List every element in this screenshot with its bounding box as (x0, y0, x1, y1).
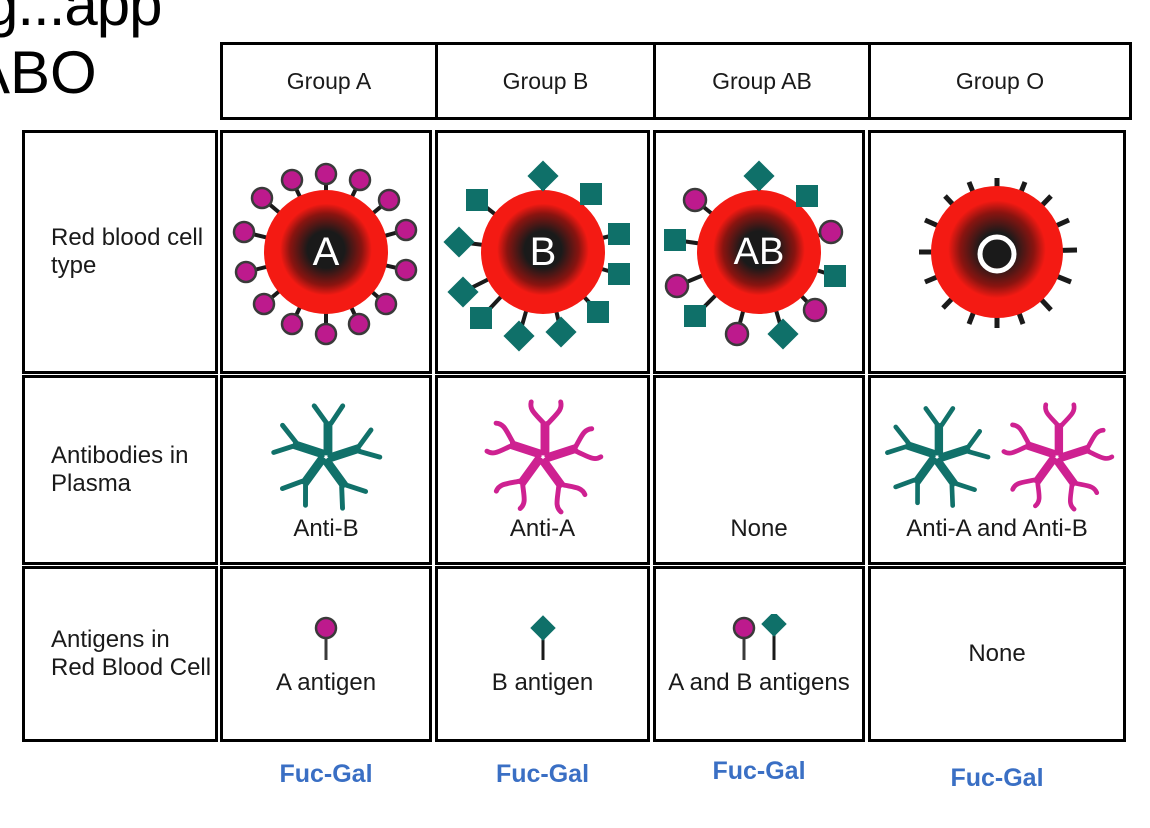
antigens-caption-group-o: None (968, 641, 1025, 668)
row-label-antigens-in-red-blood-cell: Antigens in Red Blood Cell (22, 566, 218, 742)
cell-rbc-group-a: A (220, 130, 432, 374)
cell-rbc-group-ab: AB (653, 130, 865, 374)
cell-rbc-group-b: B (435, 130, 650, 374)
antibody-svg-anti-b (263, 398, 389, 516)
antibody-svg-anti-a (480, 398, 606, 516)
column-header-group-o: Group O (868, 42, 1132, 120)
antigens-caption-group-a: A antigen (276, 670, 376, 697)
antigen-glyph-b-icon (526, 614, 560, 666)
antigen-glyph-a-icon (309, 614, 343, 666)
rbc-svg-o (897, 152, 1097, 352)
cell-antibodies-group-o: Anti-A and Anti-B (868, 375, 1126, 565)
cell-antibodies-group-ab: None (653, 375, 865, 565)
rbc-svg-ab: AB (659, 152, 859, 352)
cell-antibodies-group-a: Anti-B (220, 375, 432, 565)
antibodies-caption-group-ab: None (730, 516, 787, 543)
fuc-gal-label-group-ab: Fuc-Gal (653, 757, 865, 786)
antibodies-caption-group-a: Anti-B (293, 516, 358, 543)
column-header-group-b: Group B (435, 42, 656, 120)
cell-rbc-group-o (868, 130, 1126, 374)
rbc-illustration-o (897, 152, 1097, 352)
row-label-antibodies-in-plasma: Antibodies in Plasma (22, 375, 218, 565)
rbc-illustration-b: B (443, 152, 643, 352)
fuc-gal-label-group-a: Fuc-Gal (220, 760, 432, 789)
rbc-svg-a: A (226, 152, 426, 352)
abo-blood-group-table: Group A Group B Group AB Group O Red blo… (22, 42, 1126, 742)
antibody-cluster-anti-a (480, 398, 606, 516)
antigen-glyph-b-icon (760, 614, 794, 666)
antibodies-caption-group-b: Anti-A (510, 516, 575, 543)
rbc-illustration-a: A (226, 152, 426, 352)
column-header-group-a: Group A (220, 42, 438, 120)
cell-antigens-group-b: B antigen (435, 566, 650, 742)
antigens-caption-group-ab: A and B antigens (668, 670, 849, 697)
rbc-letter-ab: AB (734, 231, 785, 273)
cell-antibodies-group-b: Anti-A (435, 375, 650, 565)
antibody-cluster-anti-b (263, 398, 389, 516)
fuc-gal-label-group-b: Fuc-Gal (435, 760, 650, 789)
rbc-letter-a: A (313, 230, 340, 274)
column-header-group-ab: Group AB (653, 42, 871, 120)
antibody-svg-anti-a-o (998, 401, 1116, 513)
fuc-gal-label-group-o: Fuc-Gal (868, 764, 1126, 793)
cell-antigens-group-o: None (868, 566, 1126, 742)
rbc-letter-b: B (529, 230, 556, 274)
antigen-key-b (526, 612, 560, 666)
rbc-svg-b: B (443, 152, 643, 352)
antigen-key-ab (724, 612, 794, 666)
cell-antigens-group-ab: A and B antigens (653, 566, 865, 742)
cell-antigens-group-a: A antigen (220, 566, 432, 742)
page-title-line-1: ...g...app (0, 0, 162, 39)
row-label-red-blood-cell-type: Red blood cell type (22, 130, 218, 374)
antigen-glyph-a-icon (724, 614, 758, 666)
rbc-illustration-ab: AB (659, 152, 859, 352)
antigen-key-a (309, 612, 343, 666)
antibody-cluster-anti-a-and-anti-b (878, 398, 1116, 516)
antibodies-caption-group-o: Anti-A and Anti-B (906, 516, 1087, 543)
antigens-caption-group-b: B antigen (492, 670, 593, 697)
antibody-svg-anti-b-o (878, 401, 996, 513)
